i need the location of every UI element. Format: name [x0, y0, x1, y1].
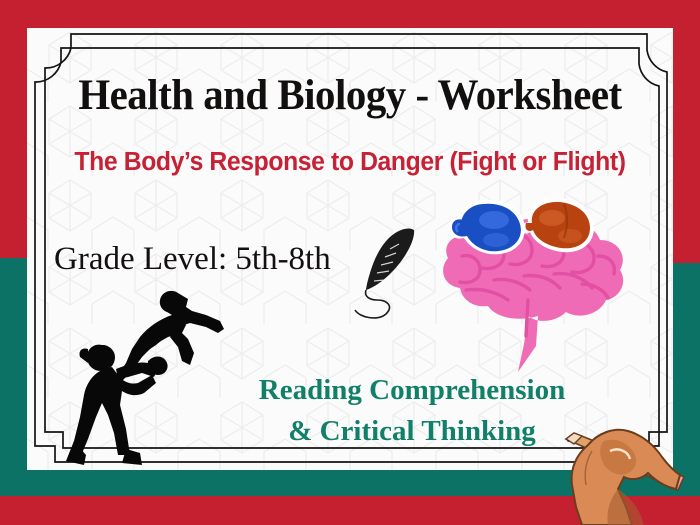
worksheet-cover-poster: Health and Biology - Worksheet The Body’…: [0, 0, 700, 525]
hand-icon: [572, 430, 680, 525]
page-title: Health and Biology - Worksheet: [18, 71, 683, 120]
feather-quill-icon: [352, 224, 424, 324]
grade-level-label: Grade Level: 5th-8th: [54, 241, 331, 278]
page-subtitle: The Body’s Response to Danger (Fight or …: [11, 148, 690, 177]
fighting-silhouettes-illustration: [60, 283, 265, 473]
tagline-line-2: & Critical Thinking: [212, 411, 612, 452]
hand-holding-pencil-illustration: [558, 411, 700, 525]
brain-with-boxing-gloves-illustration: [432, 196, 646, 386]
